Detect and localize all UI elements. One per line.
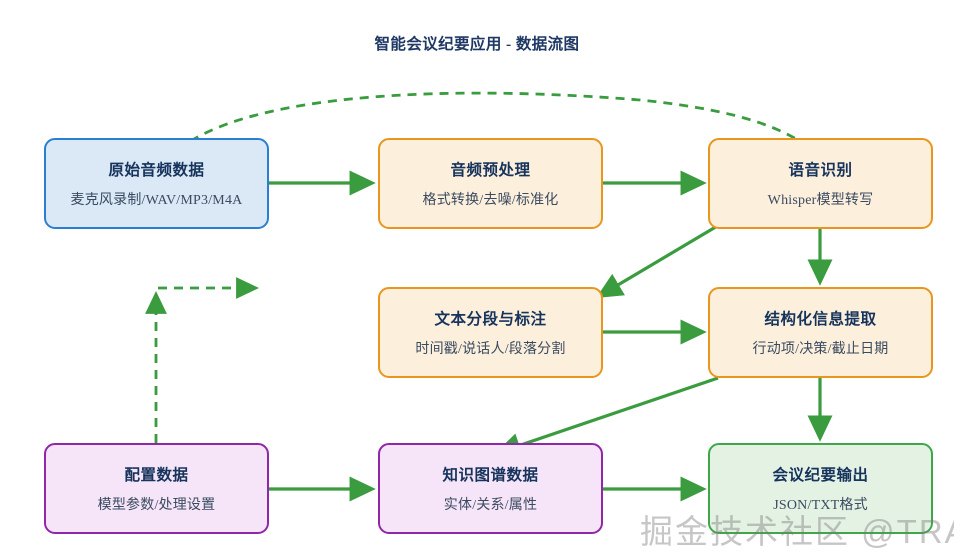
node-subtitle: 模型参数/处理设置 xyxy=(98,494,216,514)
node-title: 原始音频数据 xyxy=(108,158,204,180)
node-raw-audio[interactable]: 原始音频数据 麦克风录制/WAV/MP3/M4A xyxy=(44,138,269,229)
node-title: 语音识别 xyxy=(788,158,852,180)
node-title: 会议纪要输出 xyxy=(772,463,868,485)
node-title: 结构化信息提取 xyxy=(764,307,876,329)
node-structured-info[interactable]: 结构化信息提取 行动项/决策/截止日期 xyxy=(708,287,933,378)
node-speech-recognition[interactable]: 语音识别 Whisper模型转写 xyxy=(708,138,933,229)
node-text-segmentation[interactable]: 文本分段与标注 时间戳/说话人/段落分割 xyxy=(378,287,603,378)
node-knowledge-graph[interactable]: 知识图谱数据 实体/关系/属性 xyxy=(378,443,603,534)
node-subtitle: 行动项/决策/截止日期 xyxy=(753,338,889,358)
node-subtitle: JSON/TXT格式 xyxy=(773,494,868,514)
diagram-canvas: 智能会议纪要应用 - 数据流图 xyxy=(0,0,954,558)
node-subtitle: Whisper模型转写 xyxy=(768,189,874,209)
node-title: 文本分段与标注 xyxy=(434,307,546,329)
node-subtitle: 格式转换/去噪/标准化 xyxy=(423,189,559,209)
node-subtitle: 时间戳/说话人/段落分割 xyxy=(415,338,565,358)
node-title: 音频预处理 xyxy=(450,158,530,180)
node-audio-preprocess[interactable]: 音频预处理 格式转换/去噪/标准化 xyxy=(378,138,603,229)
edge-structured-to-kg xyxy=(500,378,718,452)
node-meeting-output[interactable]: 会议纪要输出 JSON/TXT格式 xyxy=(708,443,933,534)
node-subtitle: 麦克风录制/WAV/MP3/M4A xyxy=(71,189,243,209)
node-subtitle: 实体/关系/属性 xyxy=(444,494,537,514)
node-title: 知识图谱数据 xyxy=(442,463,538,485)
node-config-data[interactable]: 配置数据 模型参数/处理设置 xyxy=(44,443,269,534)
node-title: 配置数据 xyxy=(124,463,188,485)
